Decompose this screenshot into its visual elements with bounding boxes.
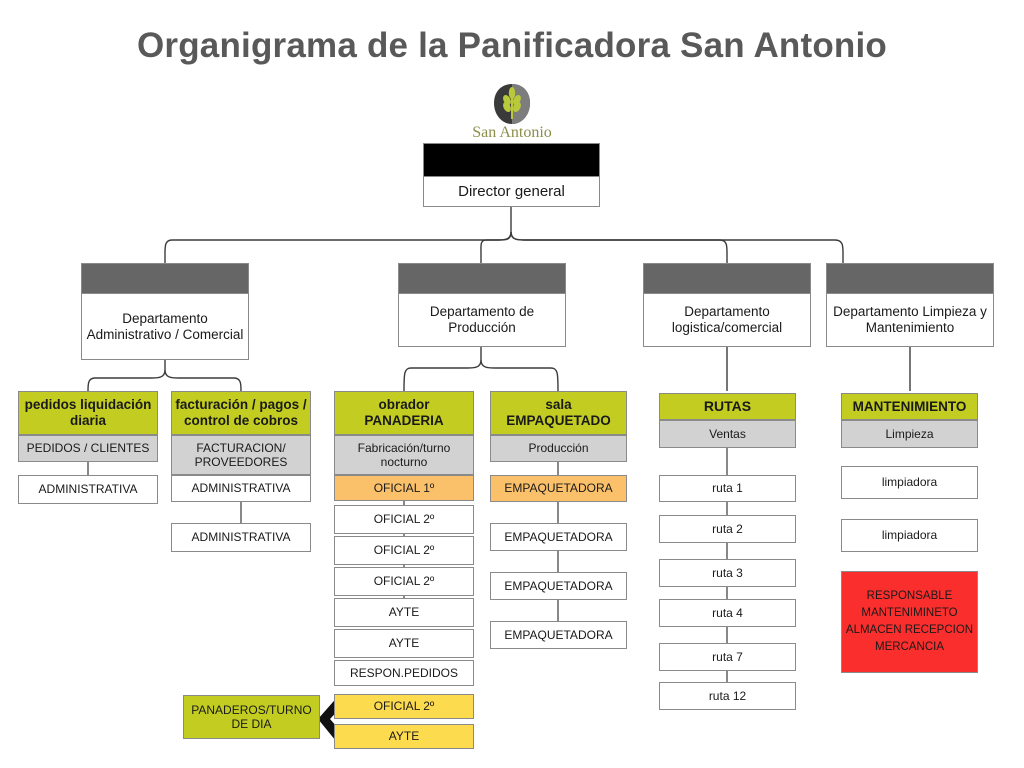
node-obrador-item-3[interactable]: AYTE: [334, 598, 474, 627]
node-dept-administrativo[interactable]: Departamento Administrativo / Comercial: [81, 293, 249, 360]
node-limpiadora-1[interactable]: limpiadora: [841, 519, 978, 552]
company-logo: San Antonio PANADERIA PASTELERIA TRADICI…: [463, 82, 561, 148]
node-limpiadora-0[interactable]: limpiadora: [841, 466, 978, 499]
node-facturacion-item-1[interactable]: ADMINISTRATIVA: [171, 523, 311, 552]
node-empaquetado-lead[interactable]: EMPAQUETADORA: [490, 475, 627, 502]
node-facturacion-sub[interactable]: FACTURACION/ PROVEEDORES: [171, 435, 311, 475]
node-mantenimiento-head[interactable]: MANTENIMIENTO: [841, 393, 978, 420]
node-responsable-mantenimiento[interactable]: RESPONSABLE MANTENIMINETO ALMACEN RECEPC…: [841, 571, 978, 673]
organigrama-canvas: Organigrama de la Panificadora San Anton…: [0, 0, 1024, 768]
node-empaquetado-sub[interactable]: Producción: [490, 435, 627, 462]
logo-wordmark: San Antonio: [472, 125, 552, 141]
dept-logistica-cap: [643, 263, 811, 293]
wheat-stalk-icon: [490, 82, 534, 126]
node-mantenimiento-sub[interactable]: Limpieza: [841, 420, 978, 448]
node-ruta-3[interactable]: ruta 4: [659, 599, 796, 627]
node-ruta-0[interactable]: ruta 1: [659, 475, 796, 502]
page-title: Organigrama de la Panificadora San Anton…: [0, 26, 1024, 66]
node-rutas-head[interactable]: RUTAS: [659, 393, 796, 420]
dept-administrativo-cap: [81, 263, 249, 293]
node-ruta-2[interactable]: ruta 3: [659, 559, 796, 587]
node-facturacion-head[interactable]: facturación / pagos / control de cobros: [171, 391, 311, 435]
node-ruta-4[interactable]: ruta 7: [659, 643, 796, 671]
node-pedidos-sub[interactable]: PEDIDOS / CLIENTES: [18, 435, 158, 462]
node-director-general[interactable]: Director general: [423, 176, 600, 207]
node-facturacion-item-0[interactable]: ADMINISTRATIVA: [171, 475, 311, 502]
node-empaquetado-item-0[interactable]: EMPAQUETADORA: [490, 523, 627, 551]
node-obrador-lead[interactable]: OFICIAL 1º: [334, 475, 474, 501]
node-pedidos-item-0[interactable]: ADMINISTRATIVA: [18, 475, 158, 504]
node-dept-logistica[interactable]: Departamento logistica/comercial: [643, 293, 811, 347]
node-pedidos-head[interactable]: pedidos liquidación diaria: [18, 391, 158, 435]
node-obrador-item-5[interactable]: RESPON.PEDIDOS: [334, 660, 474, 686]
node-empaquetado-head[interactable]: sala EMPAQUETADO: [490, 391, 627, 435]
node-empaquetado-item-1[interactable]: EMPAQUETADORA: [490, 572, 627, 600]
node-dept-produccion[interactable]: Departamento de Producción: [398, 293, 566, 347]
node-day-shift-item-1[interactable]: AYTE: [334, 724, 474, 749]
node-obrador-sub[interactable]: Fabricación/turno nocturno: [334, 435, 474, 475]
dept-limpieza-cap: [826, 263, 994, 293]
node-empaquetado-item-2[interactable]: EMPAQUETADORA: [490, 621, 627, 649]
node-rutas-sub[interactable]: Ventas: [659, 420, 796, 448]
node-dept-limpieza[interactable]: Departamento Limpieza y Mantenimiento: [826, 293, 994, 347]
director-general-cap: [423, 143, 600, 176]
dept-produccion-cap: [398, 263, 566, 293]
node-ruta-5[interactable]: ruta 12: [659, 682, 796, 710]
node-day-shift-item-0[interactable]: OFICIAL 2º: [334, 694, 474, 719]
node-ruta-1[interactable]: ruta 2: [659, 515, 796, 543]
node-obrador-head[interactable]: obrador PANADERIA: [334, 391, 474, 435]
node-obrador-item-0[interactable]: OFICIAL 2º: [334, 505, 474, 534]
node-obrador-item-1[interactable]: OFICIAL 2º: [334, 536, 474, 565]
node-obrador-item-4[interactable]: AYTE: [334, 629, 474, 658]
node-panaderos-turno-dia[interactable]: PANADEROS/TURNO DE DIA: [183, 695, 320, 739]
node-obrador-item-2[interactable]: OFICIAL 2º: [334, 567, 474, 596]
